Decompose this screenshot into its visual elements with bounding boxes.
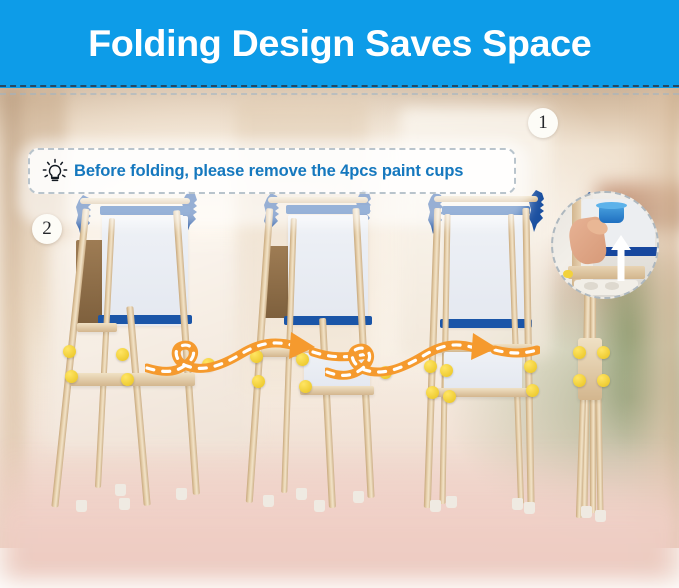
adjust-knob [440, 364, 453, 377]
inset-paint-cup [599, 205, 624, 223]
lightbulb-icon [40, 156, 70, 186]
adjust-knob [379, 366, 392, 379]
infographic-page: Folding Design Saves Space [0, 0, 679, 588]
step-badge-1: 1 [528, 108, 558, 138]
rubber-foot [176, 488, 187, 500]
rubber-foot [430, 500, 441, 512]
rubber-foot [296, 488, 307, 500]
inset-tray [568, 266, 645, 280]
adjust-knob [116, 348, 129, 361]
adjust-knob [573, 346, 586, 359]
scene-top-divider [0, 93, 679, 95]
rubber-foot [581, 506, 592, 518]
adjust-knob [121, 373, 134, 386]
header-banner: Folding Design Saves Space [0, 0, 679, 88]
page-title: Folding Design Saves Space [88, 23, 591, 65]
accessory-tray [77, 323, 117, 332]
step-badge-2: 2 [32, 214, 62, 244]
adjust-knob [252, 375, 265, 388]
rubber-foot [76, 500, 87, 512]
rubber-foot [446, 496, 457, 508]
rubber-foot [524, 502, 535, 514]
inset-knob [563, 270, 572, 278]
easel-leg [424, 208, 441, 508]
adjust-knob [573, 374, 586, 387]
adjust-knob [443, 390, 456, 403]
up-arrow-icon [610, 235, 632, 281]
adjust-knob [424, 360, 437, 373]
rubber-foot [595, 510, 606, 522]
rubber-foot [263, 495, 274, 507]
adjust-knob [250, 350, 263, 363]
rubber-foot [314, 500, 325, 512]
callout-label: Before folding, please remove the 4pcs p… [74, 162, 463, 181]
adjust-knob [524, 360, 537, 373]
easel-leg [51, 208, 89, 507]
inset-cup-hole [584, 282, 598, 289]
easel-leg [319, 318, 336, 508]
easel-folding-2 [400, 188, 560, 588]
adjust-knob [597, 346, 610, 359]
step-1-inset-photo [551, 191, 659, 299]
lower-board [444, 352, 522, 390]
easel-leg [126, 306, 150, 506]
rubber-foot [353, 491, 364, 503]
rubber-foot [115, 484, 126, 496]
scene-photo: Before folding, please remove the 4pcs p… [0, 88, 679, 588]
easel-folding-1 [220, 188, 395, 588]
adjust-knob [426, 386, 439, 399]
adjust-knob [65, 370, 78, 383]
lower-board [304, 353, 370, 389]
easel-open [40, 188, 225, 588]
header-divider [0, 85, 679, 87]
easel-leg [522, 208, 534, 508]
adjust-knob [597, 374, 610, 387]
adjust-knob [296, 353, 309, 366]
clamp-bar-bottom [440, 319, 532, 328]
rubber-foot [512, 498, 523, 510]
rubber-foot [119, 498, 130, 510]
adjust-knob [63, 345, 76, 358]
callout-box: Before folding, please remove the 4pcs p… [28, 148, 516, 194]
adjust-knob [526, 384, 539, 397]
adjust-knob [299, 380, 312, 393]
inset-cup-hole [605, 282, 619, 289]
adjust-knob [202, 358, 215, 371]
